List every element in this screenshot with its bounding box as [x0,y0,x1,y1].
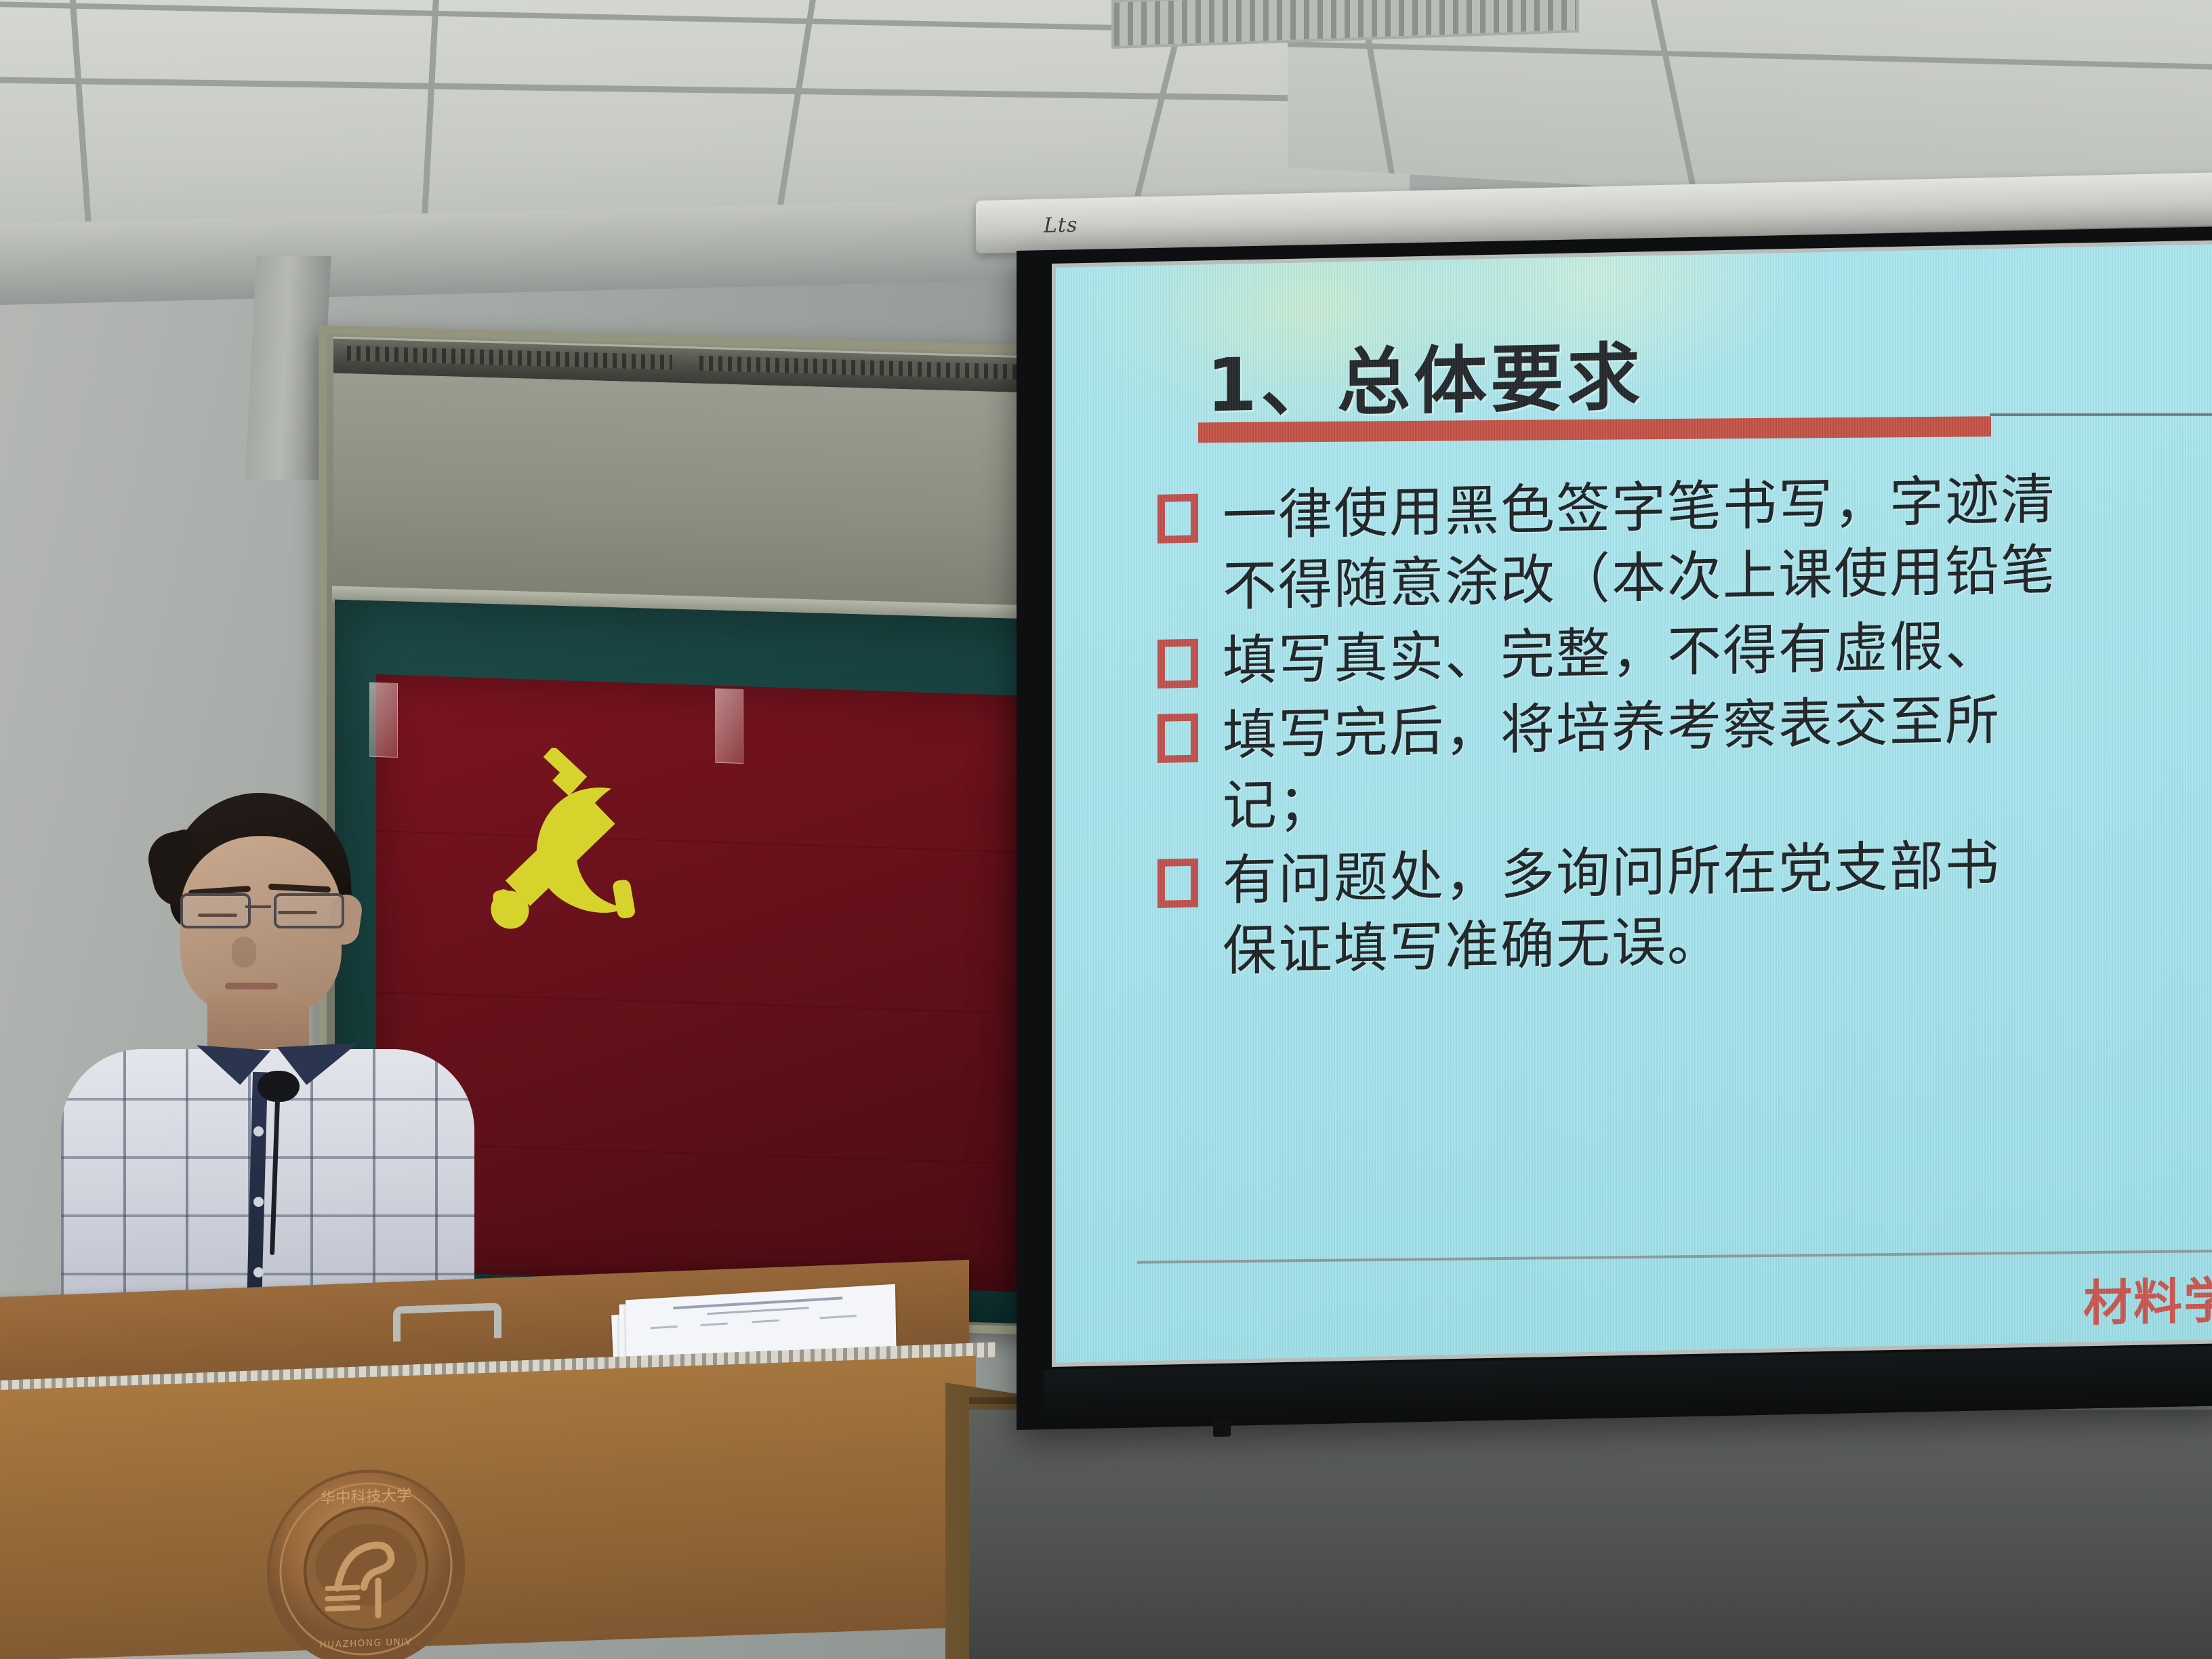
glasses-icon [173,893,355,931]
checkbox-bullet-icon [1158,639,1198,689]
tape-strip-left [369,682,398,758]
projection-screen-surface: 1、总体要求 一律使用黑色签字笔书写，字迹清 不得随意涂改（本次上课使用铅笔 [1052,240,2212,1367]
slide-title: 1、总体要求 [1206,318,1643,432]
checkbox-bullet-icon [1158,714,1198,763]
slide-bullet-item: 填写完后，将培养考察表交至所 记； [1158,680,2212,843]
podium-handle[interactable] [393,1303,501,1342]
slide-bullet-item: 一律使用黑色签字笔书写，字迹清 不得随意涂改（本次上课使用铅笔 [1158,461,2212,623]
lecture-hall-photo: 华中科技大学 HUAZHONG UNIV Lts 1、总体要求 一律使用黑色签字… [0,0,2212,1659]
lavalier-microphone-icon [258,1071,300,1102]
title-underline-thin-line [1990,413,2212,416]
slide-footer-divider [1137,1250,2212,1264]
checkbox-bullet-icon [1158,859,1198,908]
screen-brand-label: Lts [1044,213,1078,238]
floor-area [969,1410,2212,1659]
screen-pull-tab[interactable] [1213,1419,1231,1437]
podium-front-panel [0,1356,976,1659]
university-crest-icon: 华中科技大学 HUAZHONG UNIV [258,1463,474,1659]
presenter-figure [54,793,488,1328]
slide-bullet-item: 有问题处，多询问所在党支部书 保证填写准确无误。 [1158,825,2212,988]
blackboard-upper-panel [333,373,1065,611]
presenter-mouth [225,983,278,989]
projection-screen: 1、总体要求 一律使用黑色签字笔书写，字迹清 不得随意涂改（本次上课使用铅笔 [1017,226,2212,1430]
presentation-slide: 1、总体要求 一律使用黑色签字笔书写，字迹清 不得随意涂改（本次上课使用铅笔 [1056,244,2212,1363]
slide-footer-text: 材料学 [2083,1261,2212,1334]
checkbox-bullet-icon [1158,494,1198,544]
slide-bullet-list: 一律使用黑色签字笔书写，字迹清 不得随意涂改（本次上课使用铅笔 填写真实、完整，… [1158,461,2212,992]
svg-text:华中科技大学: 华中科技大学 [321,1487,412,1508]
presenter-nose [232,937,256,968]
tape-strip-right [715,689,743,764]
bullet-line: 填写真实、完整，不得有虚假、 [1223,606,2212,697]
